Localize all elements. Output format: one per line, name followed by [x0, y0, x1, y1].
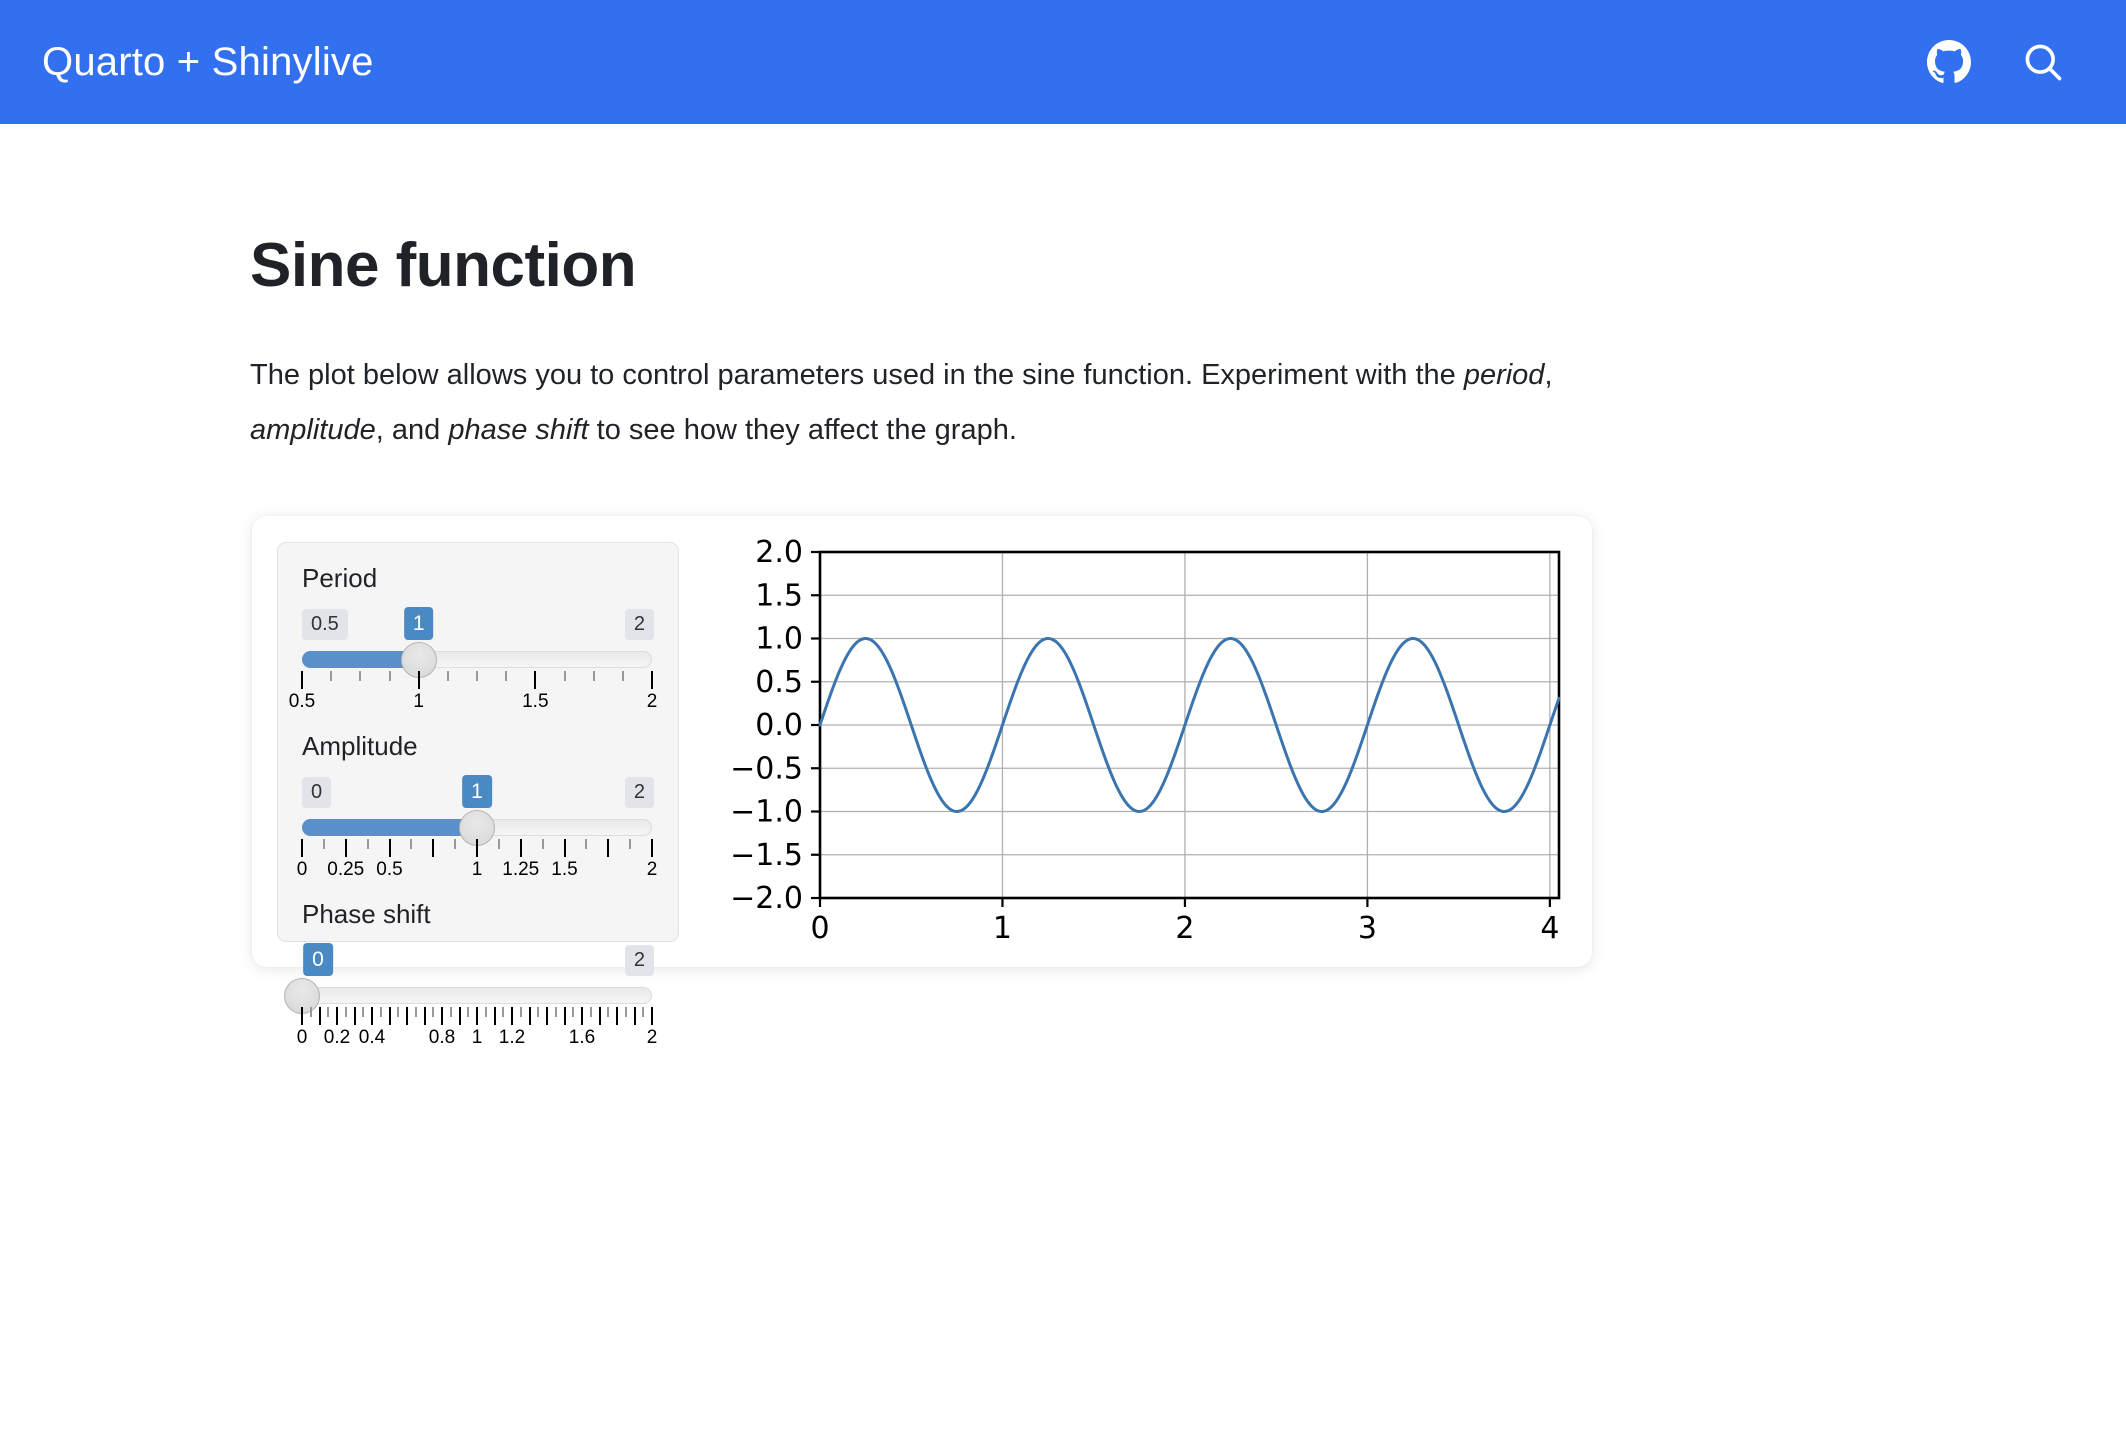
slider-tick-major: [432, 839, 434, 857]
slider-tick-major: [301, 1007, 303, 1025]
navbar-tools: [1926, 39, 2066, 85]
slider-tick-minor: [327, 1007, 329, 1017]
slider-tick-minor: [537, 1007, 539, 1017]
slider-tick-label: 2: [647, 691, 658, 713]
slider-tick-minor: [362, 1007, 364, 1017]
slider-tick-major: [494, 1007, 496, 1025]
slider-grid-phase-shift: 00.20.40.811.21.62: [302, 1007, 652, 1055]
slider-tick-minor: [367, 839, 369, 849]
slider-tick-label: 1.2: [499, 1027, 525, 1049]
slider-amplitude[interactable]: 0 2 1 00.250.511.251.52: [302, 773, 654, 891]
slider-tick-minor: [498, 839, 500, 849]
slider-tick-major: [418, 671, 420, 689]
site-title: Quarto + Shinylive: [42, 40, 374, 85]
slider-tick-minor: [485, 1007, 487, 1017]
x-axis-tick-label: 3: [1358, 911, 1377, 946]
slider-tick-minor: [380, 1007, 382, 1017]
y-axis-tick-label: 2.0: [755, 535, 803, 570]
slider-tick-minor: [410, 839, 412, 849]
slider-tick-major: [389, 839, 391, 857]
slider-tick-minor: [450, 1007, 452, 1017]
slider-max-period: 2: [625, 609, 654, 640]
controls-sidebar: Period 0.5 2 1 0.511.52 Amplitude 0 2 1: [277, 542, 679, 942]
slider-tick-minor: [432, 1007, 434, 1017]
page-intro: The plot below allows you to control par…: [250, 348, 1600, 458]
slider-tick-label: 0: [297, 859, 308, 881]
slider-tick-major: [564, 1007, 566, 1025]
slider-tick-major: [319, 1007, 321, 1025]
slider-tick-major: [345, 839, 347, 857]
slider-tick-major: [354, 1007, 356, 1025]
y-axis-tick-label: −2.0: [730, 881, 803, 916]
slider-tick-minor: [564, 671, 566, 681]
slider-tick-major: [511, 1007, 513, 1025]
slider-tick-label: 0.5: [376, 859, 402, 881]
slider-tick-major: [336, 1007, 338, 1025]
slider-group-amplitude: Amplitude 0 2 1 00.250.511.251.52: [302, 733, 654, 891]
slider-tick-major: [301, 671, 303, 689]
slider-tick-minor: [622, 671, 624, 681]
slider-tick-label: 1.5: [551, 859, 577, 881]
slider-tick-minor: [330, 671, 332, 681]
intro-text-3: , and: [376, 414, 449, 446]
slider-tick-minor: [629, 839, 631, 849]
slider-tick-major: [301, 839, 303, 857]
slider-tick-minor: [585, 839, 587, 849]
slider-fill-amplitude: [302, 819, 477, 836]
slider-grid-period: 0.511.52: [302, 671, 652, 719]
slider-tick-major: [564, 839, 566, 857]
slider-tick-label: 0.4: [359, 1027, 385, 1049]
slider-tick-minor: [389, 671, 391, 681]
y-axis-tick-label: 1.5: [755, 578, 803, 613]
y-axis-tick-label: 0.0: [755, 708, 803, 743]
slider-min-period: 0.5: [302, 609, 348, 640]
slider-tick-major: [389, 1007, 391, 1025]
slider-track-phase-shift[interactable]: [302, 987, 652, 1004]
slider-tick-major: [634, 1007, 636, 1025]
slider-tick-minor: [476, 671, 478, 681]
x-axis-tick-label: 4: [1540, 911, 1559, 946]
slider-tick-label: 1.6: [569, 1027, 595, 1049]
slider-tick-minor: [642, 1007, 644, 1017]
shinylive-app-card: Period 0.5 2 1 0.511.52 Amplitude 0 2 1: [252, 516, 1592, 967]
slider-tick-major: [520, 839, 522, 857]
slider-tick-minor: [310, 1007, 312, 1017]
slider-tick-major: [651, 839, 653, 857]
slider-label-amplitude: Amplitude: [302, 733, 654, 759]
y-axis-tick-label: 0.5: [755, 665, 803, 700]
slider-tick-label: 1: [472, 859, 483, 881]
y-axis-tick-label: −1.0: [730, 795, 803, 830]
slider-tick-minor: [542, 839, 544, 849]
slider-value-amplitude: 1: [462, 775, 492, 808]
slider-tick-major: [424, 1007, 426, 1025]
sine-plot-svg: 01234−2.0−1.5−1.0−0.50.00.51.01.52.0: [704, 530, 1574, 954]
slider-phase-shift[interactable]: 0 2 0 00.20.40.811.21.62: [302, 941, 654, 1059]
y-axis-tick-label: 1.0: [755, 622, 803, 657]
slider-tick-minor: [572, 1007, 574, 1017]
slider-tick-minor: [467, 1007, 469, 1017]
slider-tick-major: [534, 671, 536, 689]
slider-tick-label: 0.2: [324, 1027, 350, 1049]
slider-max-phase-shift: 2: [625, 945, 654, 976]
slider-tick-label: 0.8: [429, 1027, 455, 1049]
slider-tick-major: [546, 1007, 548, 1025]
slider-tick-minor: [520, 1007, 522, 1017]
slider-tick-label: 2: [647, 1027, 658, 1049]
intro-text-1: The plot below allows you to control par…: [250, 359, 1464, 391]
github-icon[interactable]: [1926, 39, 1972, 85]
x-axis-tick-label: 0: [810, 911, 829, 946]
slider-tick-major: [371, 1007, 373, 1025]
slider-tick-major: [476, 1007, 478, 1025]
slider-group-period: Period 0.5 2 1 0.511.52: [302, 565, 654, 723]
search-icon[interactable]: [2020, 39, 2066, 85]
slider-tick-label: 0.25: [327, 859, 364, 881]
slider-tick-minor: [397, 1007, 399, 1017]
slider-tick-minor: [625, 1007, 627, 1017]
slider-value-phase-shift: 0: [303, 943, 333, 976]
intro-text-2: ,: [1544, 359, 1552, 391]
slider-tick-major: [616, 1007, 618, 1025]
sine-plot: 01234−2.0−1.5−1.0−0.50.00.51.01.52.0: [704, 530, 1574, 954]
page-content: Sine function The plot below allows you …: [0, 124, 2126, 1438]
intro-emph-phase-shift: phase shift: [448, 414, 588, 446]
slider-label-phase-shift: Phase shift: [302, 901, 654, 927]
slider-tick-major: [529, 1007, 531, 1025]
slider-tick-major: [581, 1007, 583, 1025]
intro-emph-amplitude: amplitude: [250, 414, 376, 446]
slider-tick-minor: [590, 1007, 592, 1017]
slider-tick-major: [651, 671, 653, 689]
intro-text-4: to see how they affect the graph.: [589, 414, 1017, 446]
slider-tick-label: 1.5: [522, 691, 548, 713]
top-navbar: Quarto + Shinylive: [0, 0, 2126, 124]
slider-tick-label: 1.25: [502, 859, 539, 881]
slider-period[interactable]: 0.5 2 1 0.511.52: [302, 605, 654, 723]
slider-grid-amplitude: 00.250.511.251.52: [302, 839, 652, 887]
slider-tick-major: [441, 1007, 443, 1025]
page-title: Sine function: [250, 232, 636, 300]
intro-emph-period: period: [1464, 359, 1545, 391]
slider-tick-major: [607, 839, 609, 857]
slider-tick-minor: [359, 671, 361, 681]
slider-tick-minor: [607, 1007, 609, 1017]
slider-max-amplitude: 2: [625, 777, 654, 808]
slider-tick-major: [651, 1007, 653, 1025]
x-axis-tick-label: 1: [993, 911, 1012, 946]
slider-group-phase-shift: Phase shift 0 2 0 00.20.40.811.21.62: [302, 901, 654, 1059]
slider-tick-label: 1: [413, 691, 424, 713]
slider-tick-minor: [593, 671, 595, 681]
slider-tick-minor: [555, 1007, 557, 1017]
slider-tick-major: [599, 1007, 601, 1025]
slider-tick-label: 1: [472, 1027, 483, 1049]
slider-tick-major: [459, 1007, 461, 1025]
slider-label-period: Period: [302, 565, 654, 591]
slider-tick-label: 0.5: [289, 691, 315, 713]
slider-tick-minor: [502, 1007, 504, 1017]
slider-tick-minor: [415, 1007, 417, 1017]
slider-tick-major: [406, 1007, 408, 1025]
slider-tick-minor: [323, 839, 325, 849]
slider-tick-major: [476, 839, 478, 857]
slider-tick-minor: [345, 1007, 347, 1017]
y-axis-tick-label: −0.5: [730, 751, 803, 786]
y-axis-tick-label: −1.5: [730, 838, 803, 873]
x-axis-tick-label: 2: [1175, 911, 1194, 946]
slider-tick-minor: [454, 839, 456, 849]
slider-tick-minor: [447, 671, 449, 681]
slider-min-amplitude: 0: [302, 777, 331, 808]
slider-tick-minor: [505, 671, 507, 681]
slider-value-period: 1: [404, 607, 434, 640]
slider-tick-label: 2: [647, 859, 658, 881]
slider-tick-label: 0: [297, 1027, 308, 1049]
